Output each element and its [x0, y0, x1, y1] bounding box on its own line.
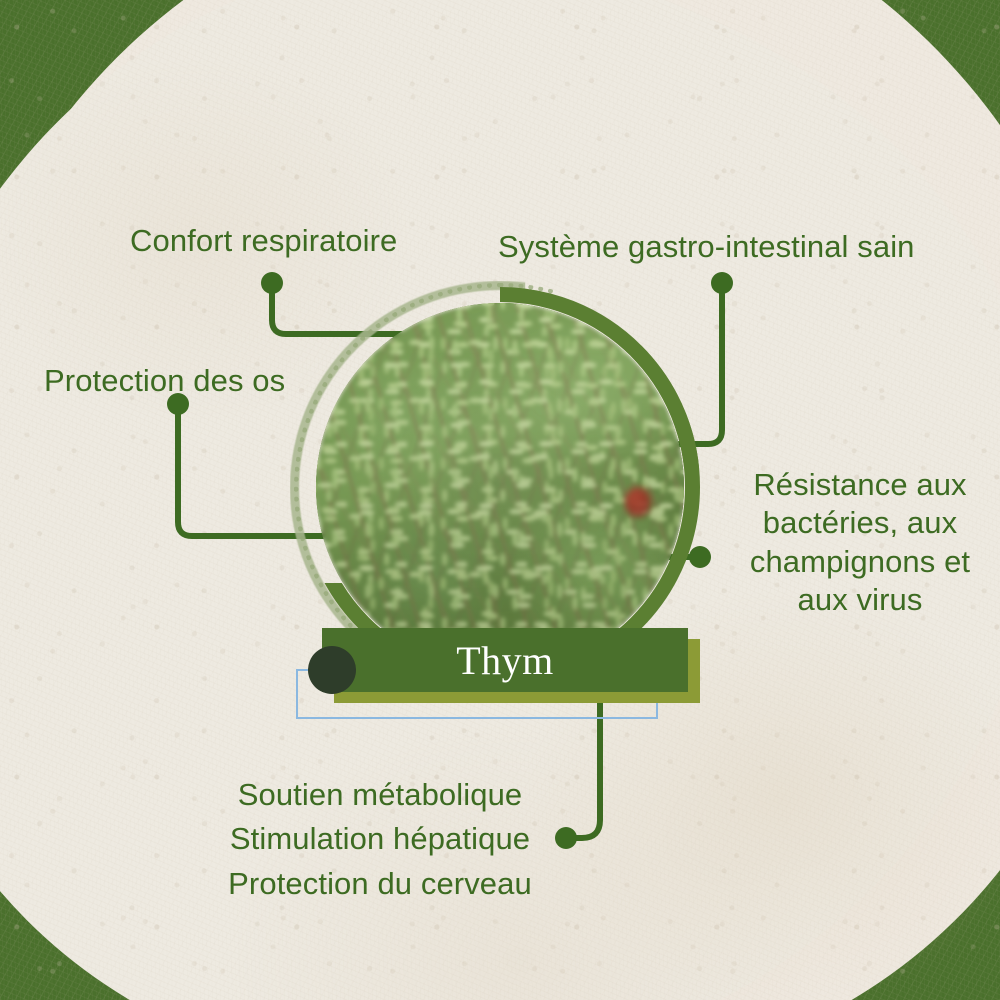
benefit-line: aux virus: [736, 581, 984, 619]
benefit-line: champignons et: [736, 543, 984, 581]
banner-dark-circle: [308, 646, 356, 694]
benefit-label-cerveau: Protection du cerveau: [200, 865, 560, 903]
benefit-label-bottom-group: Soutien métabolique Stimulation hépatiqu…: [200, 776, 560, 909]
benefit-label-gastro: Système gastro-intestinal sain: [498, 228, 915, 266]
benefit-label-hepatique: Stimulation hépatique: [200, 820, 560, 858]
benefit-line: Résistance aux: [736, 466, 984, 504]
benefit-label-os: Protection des os: [44, 362, 285, 400]
benefit-line: bactéries, aux: [736, 504, 984, 542]
thyme-photo-frame: [316, 303, 684, 671]
benefit-label-metabolique: Soutien métabolique: [200, 776, 560, 814]
benefit-label-resistance: Résistance aux bactéries, aux champignon…: [736, 466, 984, 620]
infographic-poster: Confort respiratoire Système gastro-inte…: [0, 0, 1000, 1000]
benefit-label-respiratoire: Confort respiratoire: [130, 222, 397, 260]
plant-name-title: Thym: [456, 637, 554, 684]
plant-name-banner: Thym: [322, 628, 688, 692]
